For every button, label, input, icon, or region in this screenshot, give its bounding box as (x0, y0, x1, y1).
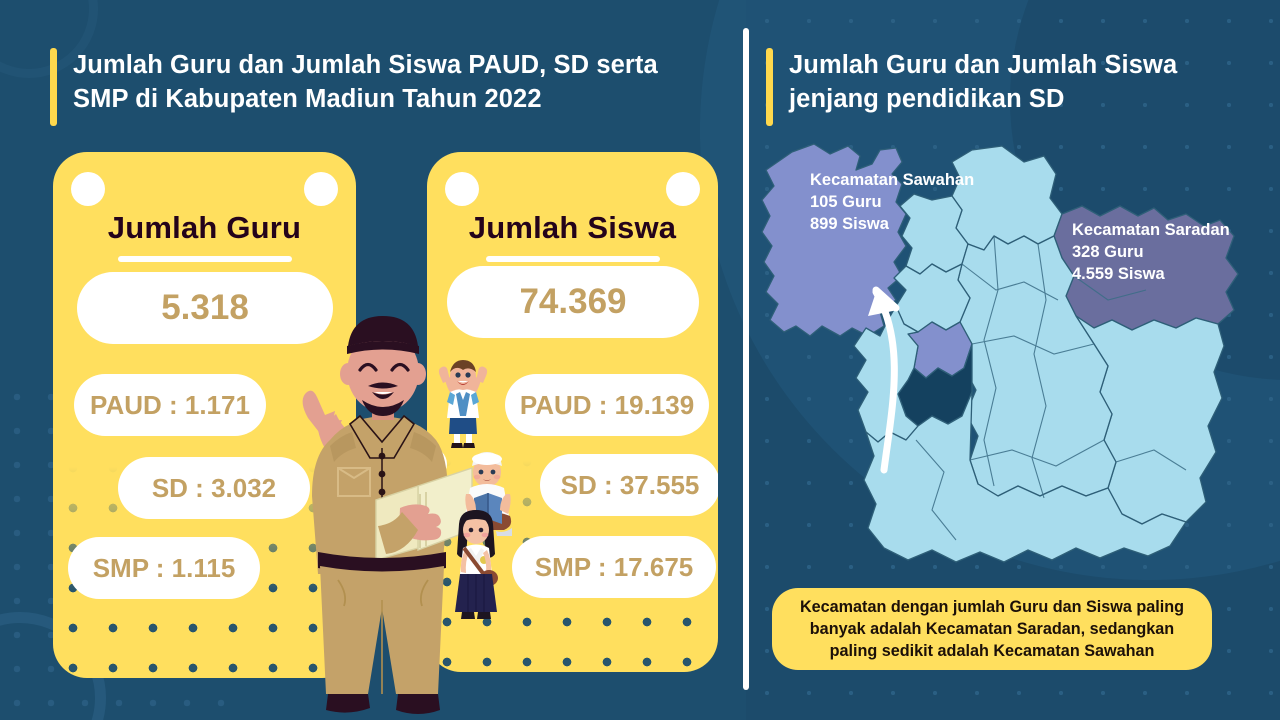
siswa-paud-value: PAUD : 19.139 (505, 374, 709, 436)
left-panel-title-text: Jumlah Guru dan Jumlah Siswa PAUD, SD se… (73, 48, 658, 116)
stat-card-siswa-title: Jumlah Siswa (427, 210, 718, 246)
map-label-sawahan: Kecamatan Sawahan 105 Guru 899 Siswa (810, 170, 974, 236)
guru-smp-value: SMP : 1.115 (68, 537, 260, 599)
siswa-sd-value: SD : 37.555 (540, 454, 718, 516)
siswa-smp-value: SMP : 17.675 (512, 536, 716, 598)
card-punch-hole-right (666, 172, 700, 206)
map-caption: Kecamatan dengan jumlah Guru dan Siswa p… (772, 588, 1212, 670)
title-accent-bar (50, 48, 57, 126)
guru-paud-value: PAUD : 1.171 (74, 374, 266, 436)
student-paud-illustration (432, 358, 494, 450)
card-punch-hole-left (445, 172, 479, 206)
right-panel-title-text: Jumlah Guru dan Jumlah Siswa jenjang pen… (789, 48, 1177, 116)
title-accent-bar (766, 48, 773, 126)
left-panel-title: Jumlah Guru dan Jumlah Siswa PAUD, SD se… (50, 48, 710, 126)
student-smp-illustration (444, 508, 508, 622)
card-punch-hole-right (304, 172, 338, 206)
card-title-underline (486, 256, 660, 262)
card-title-underline (118, 256, 292, 262)
panel-divider (743, 28, 749, 690)
right-panel-title: Jumlah Guru dan Jumlah Siswa jenjang pen… (766, 48, 1246, 126)
card-punch-hole-left (71, 172, 105, 206)
map-label-saradan: Kecamatan Saradan 328 Guru 4.559 Siswa (1072, 220, 1230, 286)
stat-card-guru-title: Jumlah Guru (53, 210, 356, 246)
